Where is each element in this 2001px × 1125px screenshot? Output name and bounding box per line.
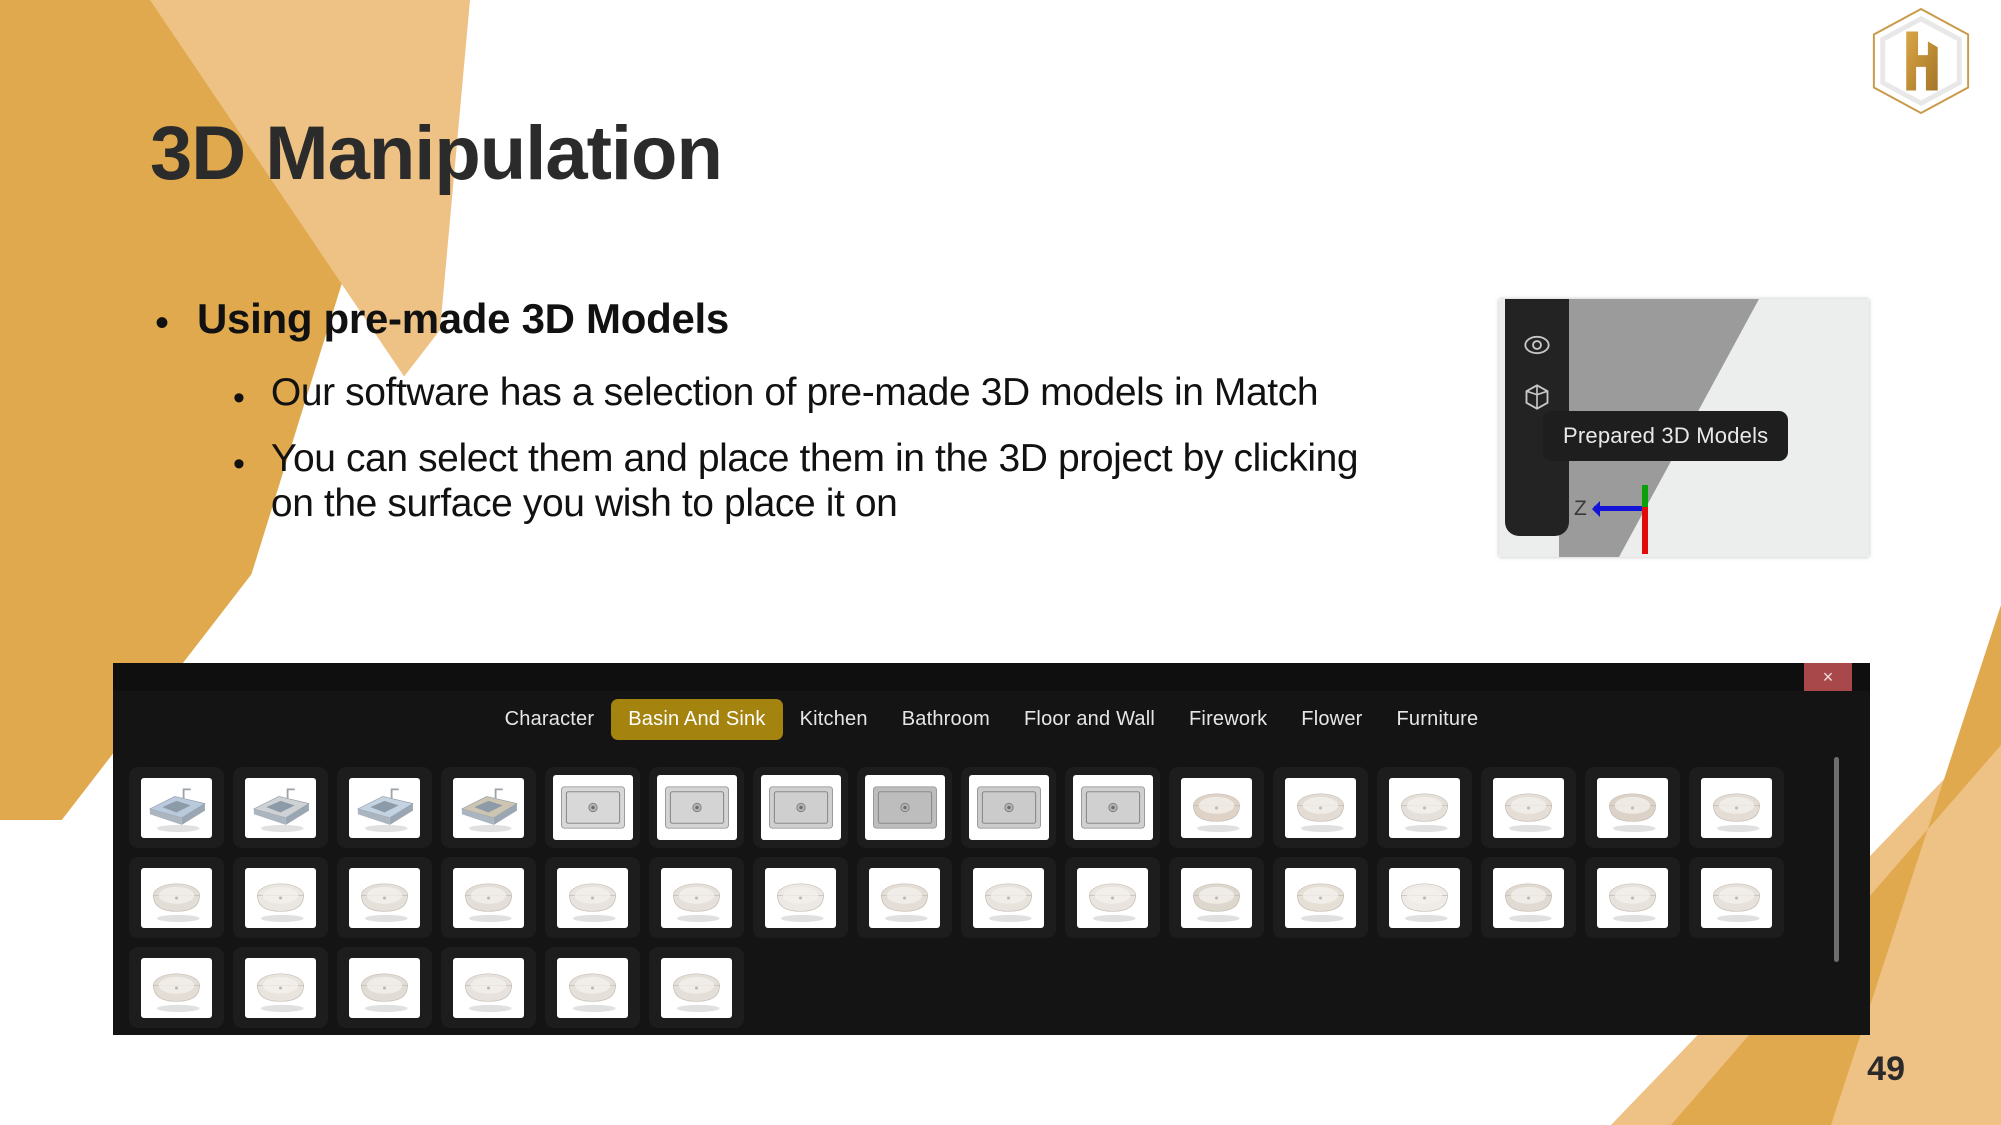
model-preview-icon (765, 868, 836, 928)
thumbnail-image (349, 868, 420, 928)
thumbnail-image (1493, 868, 1564, 928)
model-thumbnail-basin-rect-counter[interactable] (1377, 767, 1472, 848)
model-thumbnail-basin-round-white[interactable] (233, 857, 328, 938)
bullet-text: Using pre-made 3D Models (197, 295, 729, 343)
model-thumbnail-sink-angled-blue-drainer[interactable] (129, 767, 224, 848)
model-preview-icon (349, 868, 420, 928)
model-thumbnail-sink-double-bowl-steel[interactable] (233, 767, 328, 848)
thumbnail-image (1181, 778, 1252, 838)
model-preview-icon (453, 958, 524, 1018)
thumbnail-image (657, 775, 737, 840)
model-preview-icon (1701, 868, 1772, 928)
model-thumbnail-basin-rect-open-box[interactable] (129, 947, 224, 1028)
presentation-slide: 3D Manipulation • Using pre-made 3D Mode… (0, 0, 2001, 1125)
thumbnail-image (1285, 868, 1356, 928)
model-preview-icon (1285, 778, 1356, 838)
model-preview-icon (557, 958, 628, 1018)
model-preview-icon (1389, 778, 1460, 838)
bullet-text: Our software has a selection of pre-made… (271, 371, 1318, 415)
thumbnail-image (1389, 868, 1460, 928)
model-thumbnail-basin-pebble-round[interactable] (337, 947, 432, 1028)
model-thumbnail-basin-folded-square[interactable] (1377, 857, 1472, 938)
model-preview-icon (1181, 778, 1252, 838)
model-preview-icon (973, 868, 1044, 928)
model-thumbnail-basin-oval-classic[interactable] (649, 947, 744, 1028)
tab-kitchen[interactable]: Kitchen (783, 699, 885, 740)
model-preview-icon (969, 775, 1049, 840)
close-icon[interactable]: × (1804, 663, 1852, 691)
model-thumbnail-basin-square-taper[interactable] (1169, 857, 1264, 938)
model-thumbnail-grid (129, 767, 1919, 1035)
thumbnail-image (141, 778, 212, 838)
model-thumbnail-sink-double-square-blue[interactable] (337, 767, 432, 848)
model-thumbnail-sink-topview-double-frame[interactable] (753, 767, 848, 848)
screenshot-thumbnail-toolbar: Prepared 3D Models Z (1499, 299, 1869, 557)
model-thumbnail-basin-curve-soft[interactable] (753, 857, 848, 938)
thumbnail-row (129, 857, 1919, 938)
model-thumbnail-sink-topview-double-small[interactable] (961, 767, 1056, 848)
model-browser-panel: × CharacterBasin And SinkKitchenBathroom… (113, 663, 1870, 1035)
model-thumbnail-basin-rect-flat[interactable] (649, 857, 744, 938)
thumbnail-image (453, 868, 524, 928)
thumbnail-image (761, 775, 841, 840)
model-thumbnail-basin-corner-wall[interactable] (233, 947, 328, 1028)
thumbnail-image (553, 775, 633, 840)
thumbnail-image (973, 868, 1044, 928)
thumbnail-image (1077, 868, 1148, 928)
model-preview-icon (1077, 868, 1148, 928)
tab-bathroom[interactable]: Bathroom (885, 699, 1007, 740)
model-preview-icon (1597, 868, 1668, 928)
model-preview-icon (1701, 778, 1772, 838)
model-preview-icon (661, 958, 732, 1018)
thumbnail-image (349, 958, 420, 1018)
model-thumbnail-sink-topview-double-equal[interactable] (649, 767, 744, 848)
thumbnail-image (245, 868, 316, 928)
thumbnail-image (1285, 778, 1356, 838)
axis-line-green (1642, 485, 1648, 507)
model-preview-icon (1389, 868, 1460, 928)
thumbnail-image (453, 958, 524, 1018)
thumbnail-image (661, 868, 732, 928)
model-preview-icon (1597, 778, 1668, 838)
model-preview-icon (661, 868, 732, 928)
bullet-dot-icon: • (233, 381, 245, 415)
model-thumbnail-basin-rect-deep-1[interactable] (129, 857, 224, 938)
axis-arrow-blue (1594, 506, 1642, 511)
thumbnail-image (557, 868, 628, 928)
thumbnail-image (1701, 778, 1772, 838)
bullet-text: You can select them and place them in th… (271, 437, 1371, 526)
model-thumbnail-basin-round-shallow[interactable] (1273, 767, 1368, 848)
model-thumbnail-basin-oval-deep[interactable] (857, 857, 952, 938)
bullet-dot-icon: • (233, 447, 245, 481)
model-preview-icon (657, 775, 737, 840)
model-preview-icon (865, 775, 945, 840)
model-preview-icon (1181, 868, 1252, 928)
thumbnail-image (1493, 778, 1564, 838)
model-thumbnail-basin-round-tall-beige[interactable] (1169, 767, 1264, 848)
tab-basin-and-sink[interactable]: Basin And Sink (611, 699, 782, 740)
model-thumbnail-sink-topview-single-large[interactable] (545, 767, 640, 848)
thumbnail-image (141, 868, 212, 928)
tab-furniture[interactable]: Furniture (1380, 699, 1496, 740)
thumbnail-row (129, 947, 1919, 1028)
thumbnail-image (765, 868, 836, 928)
bullet-level2: • Our software has a selection of pre-ma… (233, 371, 1455, 415)
model-preview-icon (1493, 778, 1564, 838)
thumbnail-image (245, 958, 316, 1018)
model-preview-icon (349, 958, 420, 1018)
model-preview-icon (453, 868, 524, 928)
thumbnail-image (1389, 778, 1460, 838)
tab-firework[interactable]: Firework (1172, 699, 1284, 740)
thumbnail-row (129, 767, 1919, 848)
page-title: 3D Manipulation (150, 116, 722, 192)
model-preview-icon (1493, 868, 1564, 928)
model-preview-icon (245, 778, 316, 838)
model-thumbnail-basin-capsule[interactable] (1481, 857, 1576, 938)
panel-titlebar (113, 663, 1870, 691)
model-preview-icon (553, 775, 633, 840)
thumbnail-image (1181, 868, 1252, 928)
bullet-level1: • Using pre-made 3D Models (155, 295, 1455, 343)
model-thumbnail-basin-boat-shape[interactable] (961, 857, 1056, 938)
model-preview-icon (557, 868, 628, 928)
thumbnail-image (865, 775, 945, 840)
model-preview-icon (141, 868, 212, 928)
thumbnail-image (349, 778, 420, 838)
model-preview-icon (245, 958, 316, 1018)
page-number: 49 (1867, 1050, 1905, 1089)
model-preview-icon (1073, 775, 1153, 840)
thumbnail-image (1701, 868, 1772, 928)
model-thumbnail-basin-shallow-wide[interactable] (545, 857, 640, 938)
model-thumbnail-basin-oval-thin[interactable] (441, 947, 536, 1028)
model-thumbnail-sink-beige-with-tap[interactable] (441, 767, 536, 848)
model-preview-icon (141, 778, 212, 838)
thumbnail-image (453, 778, 524, 838)
category-tabs: CharacterBasin And SinkKitchenBathroomFl… (113, 699, 1870, 740)
model-thumbnail-basin-oval-rim[interactable] (1065, 857, 1160, 938)
model-thumbnail-basin-bowl-round[interactable] (1585, 857, 1680, 938)
eye-icon[interactable] (1523, 331, 1551, 359)
model-thumbnail-basin-round-corner[interactable] (1273, 857, 1368, 938)
thumbnail-image (661, 958, 732, 1018)
model-preview-icon (453, 778, 524, 838)
thumbnail-image (1073, 775, 1153, 840)
model-preview-icon (141, 958, 212, 1018)
bullet-list: • Using pre-made 3D Models • Our softwar… (155, 295, 1455, 548)
tab-floor-and-wall[interactable]: Floor and Wall (1007, 699, 1172, 740)
thumbnail-image (557, 958, 628, 1018)
thumbnail-image (141, 958, 212, 1018)
model-preview-icon (869, 868, 940, 928)
axis-line-red (1642, 506, 1648, 554)
thumbnail-image (1597, 778, 1668, 838)
model-preview-icon (349, 778, 420, 838)
model-thumbnail-basin-rect-rounded[interactable] (1689, 857, 1784, 938)
model-preview-icon (761, 775, 841, 840)
thumbnail-image (969, 775, 1049, 840)
thumbnail-image (1597, 868, 1668, 928)
model-thumbnail-sink-round-steel[interactable] (1065, 767, 1160, 848)
tooltip-prepared-3d-models: Prepared 3D Models (1543, 411, 1788, 461)
bullet-level2: • You can select them and place them in … (233, 437, 1455, 526)
tab-flower[interactable]: Flower (1284, 699, 1379, 740)
model-thumbnail-basin-oval-low[interactable] (1689, 767, 1784, 848)
thumbnail-image (869, 868, 940, 928)
model-thumbnail-basin-oval-soft[interactable] (337, 857, 432, 938)
model-preview-icon (245, 868, 316, 928)
company-logo-hexagon-h (1867, 6, 1975, 116)
model-preview-icon (1285, 868, 1356, 928)
model-thumbnail-basin-leaf-curve[interactable] (545, 947, 640, 1028)
vertical-scrollbar[interactable] (1834, 757, 1839, 962)
tab-character[interactable]: Character (488, 699, 612, 740)
model-thumbnail-basin-oval-wide[interactable] (1585, 767, 1680, 848)
model-thumbnail-basin-rect-slim[interactable] (1481, 767, 1576, 848)
cube-icon[interactable] (1523, 383, 1551, 411)
model-thumbnail-basin-rect-angled[interactable] (441, 857, 536, 938)
model-thumbnail-sink-topview-deep-single[interactable] (857, 767, 952, 848)
thumbnail-image (245, 778, 316, 838)
bullet-dot-icon: • (155, 303, 169, 343)
